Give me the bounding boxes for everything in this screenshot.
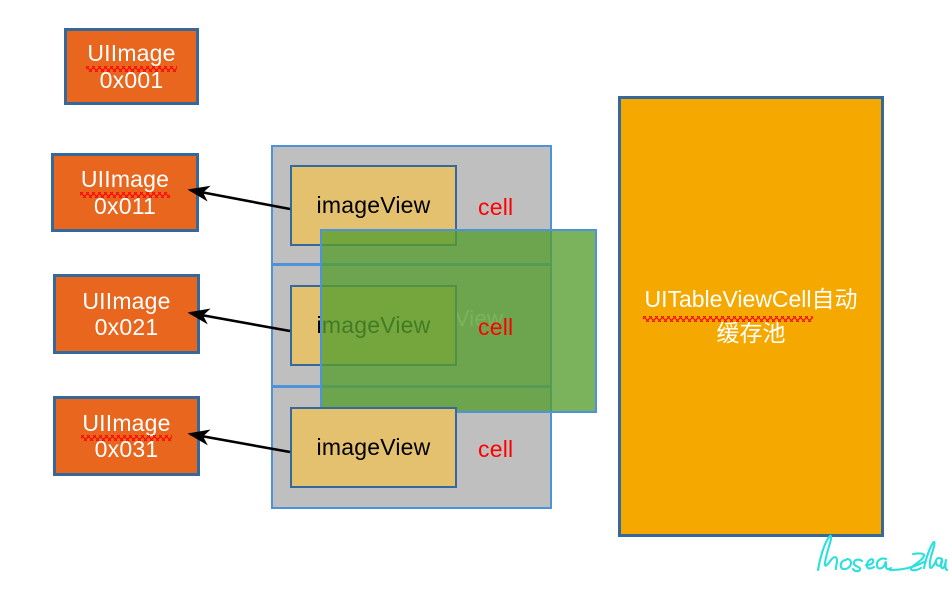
cache-pool-label-en: UITableViewCell <box>644 283 811 316</box>
uiimage-name-label: UIImage <box>82 410 170 436</box>
uiimage-box-0x021[interactable]: UIImage 0x021 <box>53 274 200 354</box>
imageview-label: imageView <box>317 434 431 461</box>
spellcheck-squiggle-icon <box>80 192 170 198</box>
cell-3-label: cell <box>478 436 513 463</box>
uiimage-name-label: UIImage <box>87 40 175 66</box>
uiimage-box-0x001[interactable]: UIImage 0x001 <box>64 28 199 105</box>
uiimage-address-label: 0x021 <box>95 314 159 340</box>
uiimage-name-label: UIImage <box>82 288 170 314</box>
reuse-pool-overlay[interactable] <box>320 229 597 413</box>
uitableviewcell-cache-pool[interactable]: UITableViewCell自动缓存池 <box>618 96 884 537</box>
spellcheck-squiggle-icon <box>81 435 171 441</box>
cell-3-imageview[interactable]: imageView <box>290 407 457 488</box>
cell-2-label: cell <box>478 314 513 341</box>
uiimage-name-label: UIImage <box>81 166 169 192</box>
uiimage-box-0x031[interactable]: UIImage 0x031 <box>53 396 200 476</box>
cache-pool-label: UITableViewCell自动缓存池 <box>635 283 867 350</box>
spellcheck-squiggle-icon <box>86 66 176 72</box>
cell-1-label: cell <box>478 194 513 221</box>
spellcheck-squiggle-icon <box>643 316 812 322</box>
diagram-canvas: UIImage 0x001 UIImage 0x011 UIImage 0x02… <box>0 0 950 602</box>
uiimage-box-0x011[interactable]: UIImage 0x011 <box>51 153 199 232</box>
imageview-label: imageView <box>317 192 431 219</box>
